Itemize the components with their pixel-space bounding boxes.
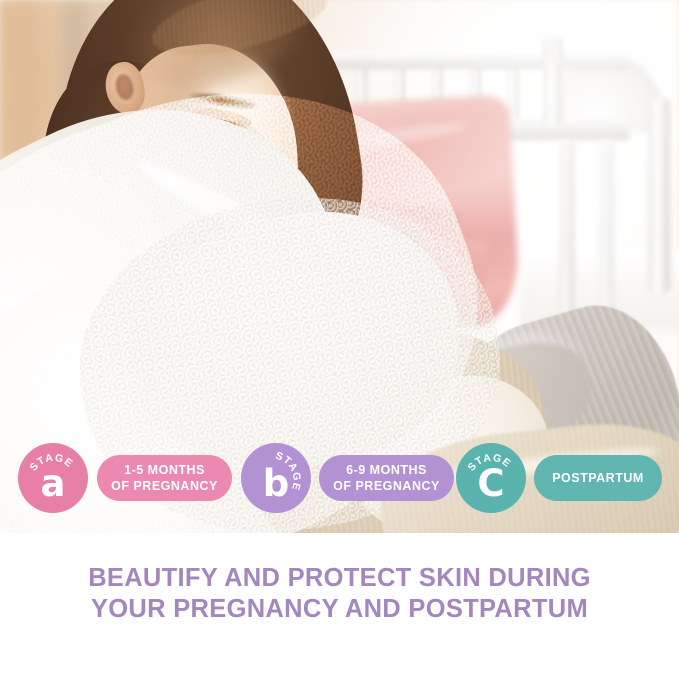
crib-leg — [600, 140, 613, 330]
stage-pill-b[interactable]: 6-9 MONTHSOF PREGNANCY — [319, 455, 454, 501]
stage-letter: C — [477, 465, 504, 502]
promo-banner: STAGEa1-5 MONTHSOF PREGNANCYSTAGEb6-9 MO… — [0, 0, 679, 679]
stage-pill-line: 6-9 MONTHS — [346, 462, 427, 479]
stage-badge-row: STAGEa1-5 MONTHSOF PREGNANCYSTAGEb6-9 MO… — [0, 443, 679, 515]
stage-pill-line: OF PREGNANCY — [111, 478, 218, 495]
stage-pill-line: POSTPARTUM — [552, 470, 644, 487]
stage-letter: a — [41, 465, 66, 502]
crib-side-post — [648, 98, 670, 293]
page-title: BEAUTIFY AND PROTECT SKIN DURINGYOUR PRE… — [0, 563, 679, 625]
stage-circle-b[interactable]: STAGEb — [241, 443, 311, 513]
page-title-line: BEAUTIFY AND PROTECT SKIN DURING — [0, 563, 679, 594]
stage-pill-c[interactable]: POSTPARTUM — [534, 455, 662, 501]
stage-pill-line: OF PREGNANCY — [333, 478, 440, 495]
stage-circle-a[interactable]: STAGEa — [18, 443, 88, 513]
crib-rail-top — [300, 52, 630, 69]
crib-post-knob — [547, 38, 560, 64]
page-title-line: YOUR PREGNANCY AND POSTPARTUM — [0, 594, 679, 625]
stage-pill-a[interactable]: 1-5 MONTHSOF PREGNANCY — [97, 455, 232, 501]
stage-letter: b — [263, 465, 290, 502]
stage-circle-c[interactable]: STAGEC — [456, 443, 526, 513]
stage-pill-line: 1-5 MONTHS — [124, 462, 205, 479]
